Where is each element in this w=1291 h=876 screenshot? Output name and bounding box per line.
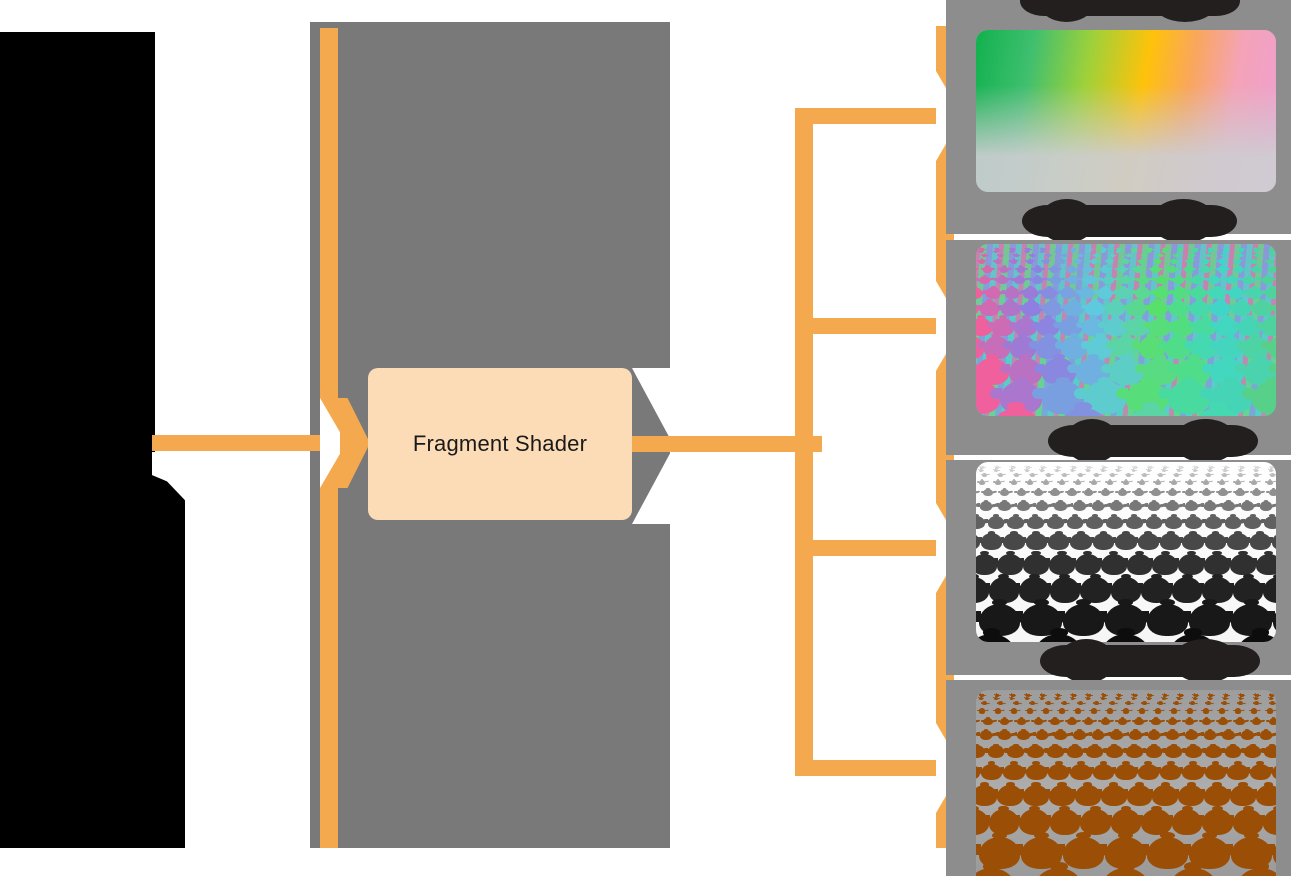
teapot-row xyxy=(976,727,1276,740)
teapot-glyph xyxy=(1027,259,1033,264)
teapot-row xyxy=(976,53,1276,62)
teapot-glyph xyxy=(995,46,1002,51)
teapot-glyph xyxy=(1174,701,1179,705)
teapot-row xyxy=(976,623,1276,642)
teapot-glyph xyxy=(1158,701,1163,705)
teapot-glyph xyxy=(1166,501,1179,511)
teapot-glyph xyxy=(1270,40,1275,44)
teapot-glyph xyxy=(1030,473,1035,477)
teapot-glyph xyxy=(1206,701,1211,705)
teapot-row xyxy=(976,62,1276,75)
teapot-glyph xyxy=(1225,745,1242,758)
teapot-glyph xyxy=(1252,266,1260,273)
teapot-glyph xyxy=(1146,745,1163,758)
teapot-glyph xyxy=(1134,489,1143,496)
teapot-glyph xyxy=(1050,266,1058,273)
teapot-glyph xyxy=(1101,868,1150,876)
teapot-glyph xyxy=(1185,745,1202,758)
teapot-glyph xyxy=(1139,259,1145,264)
teapot-glyph xyxy=(1251,46,1258,51)
teapot-glyph xyxy=(1078,473,1083,477)
teapot-glyph xyxy=(998,40,1003,44)
teapot-glyph xyxy=(1203,46,1210,51)
teapot-glyph xyxy=(1073,730,1086,740)
teapot-glyph xyxy=(1241,501,1254,511)
teapot-row xyxy=(976,742,1276,759)
teapot-glyph xyxy=(1062,473,1067,477)
teapot-glyph xyxy=(1193,408,1242,416)
teapot-glyph xyxy=(1110,65,1123,75)
teapot-glyph xyxy=(1027,516,1044,529)
teapot-row xyxy=(976,759,1276,780)
teapot-glyph xyxy=(998,730,1011,740)
teapot-glyph xyxy=(1134,266,1142,273)
teapot-glyph xyxy=(1185,501,1198,511)
teapot-glyph xyxy=(1168,266,1176,273)
teapot-row xyxy=(976,498,1276,511)
teapot-glyph xyxy=(1138,276,1149,285)
teapot-glyph xyxy=(1118,266,1126,273)
teapot-glyph xyxy=(1000,489,1009,496)
teapot-glyph xyxy=(1151,55,1160,62)
teapot-glyph xyxy=(1047,745,1064,758)
teapot-glyph xyxy=(998,473,1003,477)
teapot-glyph xyxy=(1244,516,1261,529)
teapot-glyph xyxy=(1269,266,1276,273)
teapot-glyph xyxy=(1017,65,1030,75)
teapot-glyph xyxy=(1092,730,1105,740)
teapot-glyph xyxy=(1222,730,1235,740)
teapot-glyph xyxy=(1073,501,1086,511)
teapot-glyph xyxy=(1123,708,1130,713)
uv-teapot-field xyxy=(976,30,1276,192)
teapot-glyph xyxy=(1067,55,1076,62)
teapot-glyph xyxy=(1067,276,1078,285)
teapot-glyph xyxy=(1244,745,1261,758)
teapot-glyph xyxy=(1171,708,1178,713)
teapot-row xyxy=(976,700,1276,705)
teapot-glyph xyxy=(1017,489,1026,496)
teapot-glyph xyxy=(1106,516,1123,529)
teapot-row xyxy=(976,716,1276,725)
teapot-glyph xyxy=(1142,473,1147,477)
teapot-glyph xyxy=(1168,489,1177,496)
teapot-glyph xyxy=(1187,708,1194,713)
teapot-glyph xyxy=(1139,480,1146,485)
teapot-glyph xyxy=(1169,868,1218,876)
depth-teapot-field xyxy=(976,462,1276,642)
teapot-row xyxy=(976,45,1276,52)
teapot-glyph xyxy=(1073,65,1086,75)
teapot-glyph xyxy=(1011,480,1018,485)
teapot-glyph xyxy=(1067,516,1084,529)
teapot-glyph xyxy=(1148,501,1161,511)
teapot-glyph xyxy=(980,65,993,75)
teapot-glyph xyxy=(1238,40,1243,44)
teapot-glyph xyxy=(1126,745,1143,758)
flat-teapot-field xyxy=(976,690,1276,876)
teapot-glyph xyxy=(1254,40,1259,44)
teapot-glyph xyxy=(992,408,1041,416)
redacted-caption-1 xyxy=(1022,205,1237,237)
teapot-glyph xyxy=(1034,489,1043,496)
teapot-glyph xyxy=(1059,46,1066,51)
teapot-glyph xyxy=(1075,708,1082,713)
teapot-glyph xyxy=(1107,259,1113,264)
teapot-glyph xyxy=(1126,516,1143,529)
teapot-glyph xyxy=(1034,718,1043,725)
teapot-glyph xyxy=(1075,259,1081,264)
normal-teapot-field xyxy=(976,244,1276,416)
teapot-glyph xyxy=(1014,473,1019,477)
teapot-glyph xyxy=(1050,489,1059,496)
teapot-glyph xyxy=(1134,55,1143,62)
teapot-glyph xyxy=(1241,730,1254,740)
teapot-glyph xyxy=(1110,501,1123,511)
teapot-glyph xyxy=(1110,40,1115,44)
teapot-row xyxy=(976,39,1276,44)
redacted-input-label xyxy=(0,32,152,848)
teapot-glyph xyxy=(1171,46,1178,51)
teapot-glyph xyxy=(995,259,1001,264)
input-connector-line xyxy=(152,435,332,451)
teapot-glyph xyxy=(1235,259,1241,264)
teapot-glyph xyxy=(1165,745,1182,758)
teapot-glyph xyxy=(1101,184,1150,192)
teapot-glyph xyxy=(1084,489,1093,496)
teapot-glyph xyxy=(1155,259,1161,264)
teapot-glyph xyxy=(1203,259,1209,264)
teapot-glyph xyxy=(988,745,1005,758)
teapot-glyph xyxy=(1054,65,1067,75)
teapot-glyph xyxy=(1000,718,1009,725)
teapot-glyph xyxy=(1222,501,1235,511)
teapot-glyph xyxy=(1260,65,1273,75)
teapot-row xyxy=(976,696,1276,700)
teapot-glyph xyxy=(1155,708,1162,713)
teapot-glyph xyxy=(1078,701,1083,705)
teapot-glyph xyxy=(1236,868,1276,876)
teapot-glyph xyxy=(1067,718,1076,725)
teapot-glyph xyxy=(1218,266,1226,273)
teapot-glyph xyxy=(1043,480,1050,485)
teapot-glyph xyxy=(1011,259,1017,264)
teapot-glyph xyxy=(1171,480,1178,485)
teapot-glyph xyxy=(995,480,1002,485)
redacted-caption-3 xyxy=(1040,645,1260,677)
teapot-glyph xyxy=(1254,473,1259,477)
teapot-glyph xyxy=(1222,40,1227,44)
teapot-glyph xyxy=(1219,480,1226,485)
teapot-glyph xyxy=(982,701,987,705)
teapot-glyph xyxy=(1209,276,1220,285)
teapot-glyph xyxy=(1101,266,1109,273)
teapot-glyph xyxy=(998,701,1003,705)
teapot-glyph xyxy=(1146,516,1163,529)
teapot-glyph xyxy=(1054,501,1067,511)
teapot-glyph xyxy=(1267,46,1274,51)
teapot-glyph xyxy=(979,259,985,264)
teapot-row xyxy=(976,253,1276,258)
teapot-row xyxy=(976,512,1276,529)
teapot-glyph xyxy=(1260,730,1273,740)
teapot-glyph xyxy=(1000,55,1009,62)
teapot-glyph xyxy=(1047,516,1064,529)
teapot-glyph xyxy=(1235,266,1243,273)
teapot-glyph xyxy=(1269,489,1276,496)
teapot-glyph xyxy=(1110,730,1123,740)
teapot-glyph xyxy=(1272,764,1276,781)
teapot-glyph xyxy=(1235,480,1242,485)
teapot-glyph xyxy=(1118,55,1127,62)
teapot-glyph xyxy=(1017,718,1026,725)
teapot-glyph xyxy=(980,501,993,511)
teapot-glyph xyxy=(1151,266,1159,273)
teapot-glyph xyxy=(1222,701,1227,705)
teapot-glyph xyxy=(1205,745,1222,758)
teapot-glyph xyxy=(1219,708,1226,713)
redacted-input-label-extension xyxy=(140,32,155,452)
teapot-row xyxy=(976,472,1276,477)
teapot-glyph xyxy=(1084,55,1093,62)
teapot-glyph xyxy=(1091,480,1098,485)
teapot-glyph xyxy=(998,501,1011,511)
teapot-row xyxy=(976,273,1276,284)
teapot-glyph xyxy=(1155,46,1162,51)
output-thumbnail-2[interactable] xyxy=(976,244,1276,416)
teapot-glyph xyxy=(1139,708,1146,713)
teapot-glyph xyxy=(1185,266,1193,273)
teapot-glyph xyxy=(1222,65,1235,75)
teapot-glyph xyxy=(1046,40,1051,44)
teapot-glyph xyxy=(1034,55,1043,62)
teapot-glyph xyxy=(1158,473,1163,477)
teapot-glyph xyxy=(1084,266,1092,273)
teapot-glyph xyxy=(1185,65,1198,75)
teapot-glyph xyxy=(1173,276,1184,285)
teapot-glyph xyxy=(1269,718,1276,725)
teapot-glyph xyxy=(1187,259,1193,264)
teapot-glyph xyxy=(1062,40,1067,44)
teapot-glyph xyxy=(1129,65,1142,75)
teapot-glyph xyxy=(1027,708,1034,713)
teapot-glyph xyxy=(1264,745,1276,758)
teapot-row xyxy=(976,173,1276,192)
teapot-glyph xyxy=(1129,501,1142,511)
teapot-glyph xyxy=(1165,516,1182,529)
teapot-glyph xyxy=(1086,745,1103,758)
teapot-glyph xyxy=(1238,701,1243,705)
branch-line-2 xyxy=(795,318,955,334)
teapot-glyph xyxy=(1202,266,1210,273)
teapot-glyph xyxy=(1264,516,1276,529)
teapot-glyph xyxy=(1091,259,1097,264)
teapot-glyph xyxy=(1218,489,1227,496)
teapot-glyph xyxy=(1174,473,1179,477)
teapot-glyph xyxy=(1222,473,1227,477)
teapot-glyph xyxy=(1225,516,1242,529)
teapot-glyph xyxy=(1238,473,1243,477)
teapot-glyph xyxy=(1270,473,1275,477)
teapot-glyph xyxy=(1254,701,1259,705)
teapot-glyph xyxy=(1126,701,1131,705)
teapot-glyph xyxy=(1094,473,1099,477)
teapot-glyph xyxy=(1050,718,1059,725)
teapot-glyph xyxy=(1252,489,1261,496)
teapot-glyph xyxy=(1171,259,1177,264)
teapot-glyph xyxy=(1139,46,1146,51)
teapot-glyph xyxy=(980,730,993,740)
teapot-glyph xyxy=(1107,480,1114,485)
teapot-glyph xyxy=(1067,745,1084,758)
teapot-glyph xyxy=(1078,40,1083,44)
teapot-glyph xyxy=(1185,55,1194,62)
teapot-glyph xyxy=(1027,480,1034,485)
teapot-glyph xyxy=(1059,708,1066,713)
teapot-glyph xyxy=(1185,718,1194,725)
teapot-glyph xyxy=(1262,276,1273,285)
teapot-glyph xyxy=(1235,55,1244,62)
teapot-glyph xyxy=(1204,501,1217,511)
teapot-glyph xyxy=(1226,276,1237,285)
teapot-glyph xyxy=(1107,46,1114,51)
teapot-glyph xyxy=(1202,718,1211,725)
teapot-glyph xyxy=(1203,480,1210,485)
teapot-glyph xyxy=(1218,55,1227,62)
output-distribution-spine xyxy=(795,108,813,776)
teapot-glyph xyxy=(1267,708,1274,713)
teapot-glyph xyxy=(1034,868,1083,876)
teapot-glyph xyxy=(983,718,992,725)
teapot-glyph xyxy=(1267,480,1274,485)
teapot-glyph xyxy=(1219,259,1225,264)
teapot-glyph xyxy=(1235,489,1244,496)
teapot-glyph xyxy=(1166,730,1179,740)
branch-line-3 xyxy=(795,540,955,556)
teapot-glyph xyxy=(1205,516,1222,529)
teapot-glyph xyxy=(1126,473,1131,477)
fragment-shader-node[interactable]: Fragment Shader xyxy=(368,368,632,520)
teapot-glyph xyxy=(983,489,992,496)
output-thumbnail-4[interactable] xyxy=(976,690,1276,876)
output-thumbnail-1[interactable] xyxy=(976,30,1276,192)
teapot-glyph xyxy=(1059,480,1066,485)
redacted-caption-0 xyxy=(1020,0,1240,16)
teapot-glyph xyxy=(982,473,987,477)
teapot-glyph xyxy=(1094,40,1099,44)
teapot-glyph xyxy=(1126,408,1175,416)
teapot-glyph xyxy=(1011,46,1018,51)
output-trunk-line xyxy=(632,436,822,452)
teapot-glyph xyxy=(1168,718,1177,725)
teapot-glyph xyxy=(1204,730,1217,740)
teapot-glyph xyxy=(1267,259,1273,264)
teapot-glyph xyxy=(1014,276,1025,285)
teapot-glyph xyxy=(1110,701,1115,705)
teapot-glyph xyxy=(1036,730,1049,740)
teapot-glyph xyxy=(1032,276,1043,285)
teapot-glyph xyxy=(1017,501,1030,511)
teapot-glyph xyxy=(1086,516,1103,529)
teapot-row xyxy=(976,857,1276,876)
teapot-glyph xyxy=(1030,40,1035,44)
teapot-glyph xyxy=(1235,46,1242,51)
teapot-glyph xyxy=(1185,516,1202,529)
teapot-glyph xyxy=(1123,46,1130,51)
teapot-glyph xyxy=(1270,701,1275,705)
teapot-glyph xyxy=(1046,473,1051,477)
teapot-glyph xyxy=(1126,40,1131,44)
teapot-glyph xyxy=(1206,40,1211,44)
teapot-glyph xyxy=(1236,634,1276,642)
teapot-glyph xyxy=(1014,701,1019,705)
teapot-glyph xyxy=(1046,701,1051,705)
teapot-glyph xyxy=(1142,701,1147,705)
teapot-glyph xyxy=(1101,489,1110,496)
teapot-glyph xyxy=(979,46,986,51)
teapot-glyph xyxy=(1050,276,1061,285)
teapot-glyph xyxy=(1129,730,1142,740)
teapot-glyph xyxy=(1017,266,1025,273)
teapot-glyph xyxy=(1059,408,1108,416)
teapot-glyph xyxy=(1017,730,1030,740)
teapot-glyph xyxy=(1043,259,1049,264)
teapot-glyph xyxy=(1252,718,1261,725)
teapot-row xyxy=(976,487,1276,496)
teapot-glyph xyxy=(983,266,991,273)
teapot-glyph xyxy=(1067,489,1076,496)
redacted-caption-2 xyxy=(1048,425,1258,457)
teapot-glyph xyxy=(1091,46,1098,51)
teapot-row xyxy=(976,528,1276,549)
teapot-glyph xyxy=(1034,184,1083,192)
teapot-glyph xyxy=(1269,55,1276,62)
teapot-glyph xyxy=(1118,489,1127,496)
output-thumbnail-3[interactable] xyxy=(976,462,1276,642)
teapot-glyph xyxy=(1107,708,1114,713)
teapot-glyph xyxy=(1007,745,1024,758)
teapot-glyph xyxy=(1075,46,1082,51)
teapot-glyph xyxy=(1007,516,1024,529)
teapot-glyph xyxy=(1036,501,1049,511)
teapot-glyph xyxy=(1050,55,1059,62)
teapot-glyph xyxy=(1190,40,1195,44)
teapot-glyph xyxy=(1027,745,1044,758)
teapot-glyph xyxy=(1185,489,1194,496)
teapot-row xyxy=(976,258,1276,264)
fragment-shader-label: Fragment Shader xyxy=(413,431,587,457)
teapot-glyph xyxy=(997,276,1008,285)
teapot-glyph xyxy=(1251,708,1258,713)
teapot-glyph xyxy=(1187,46,1194,51)
teapot-row xyxy=(983,397,1277,416)
teapot-glyph xyxy=(1151,718,1160,725)
teapot-glyph xyxy=(1241,65,1254,75)
teapot-glyph xyxy=(1190,701,1195,705)
teapot-glyph xyxy=(1260,501,1273,511)
teapot-glyph xyxy=(1202,489,1211,496)
teapot-glyph xyxy=(1206,473,1211,477)
teapot-glyph xyxy=(1092,65,1105,75)
teapot-glyph xyxy=(1185,730,1198,740)
teapot-glyph xyxy=(979,708,986,713)
teapot-glyph xyxy=(1062,701,1067,705)
teapot-glyph xyxy=(1043,708,1050,713)
teapot-glyph xyxy=(1110,473,1115,477)
teapot-glyph xyxy=(1106,745,1123,758)
teapot-glyph xyxy=(983,55,992,62)
teapot-glyph xyxy=(1260,408,1276,416)
